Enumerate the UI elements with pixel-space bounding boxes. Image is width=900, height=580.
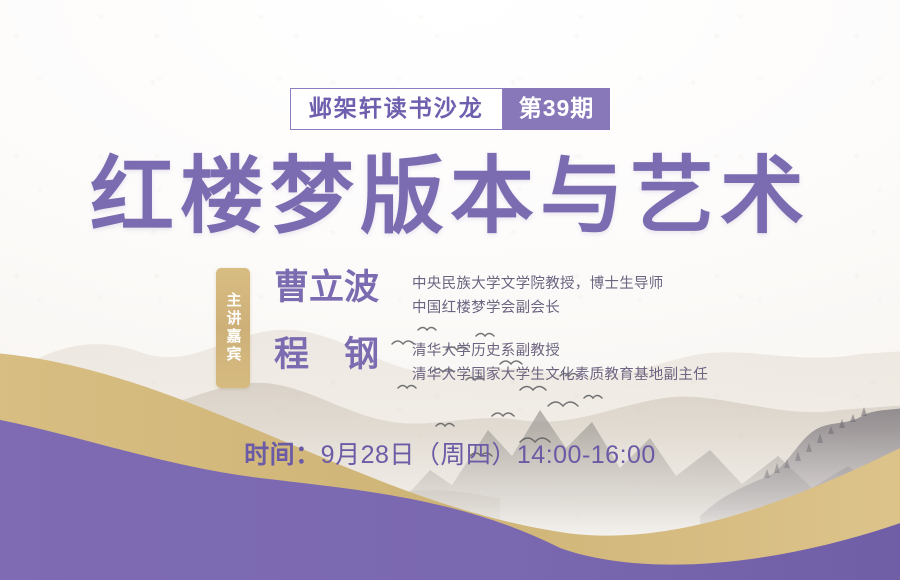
event-time-value: 9月28日（周四）14:00-16:00: [321, 441, 656, 469]
speaker-credential-line: 清华大学国家大学生文化素质教育基地副主任: [412, 364, 708, 388]
series-chip: 邺架轩读书沙龙: [290, 88, 503, 130]
event-time: 时间：9月28日（周四）14:00-16:00: [0, 435, 900, 471]
page-title: 红楼梦版本与艺术: [0, 150, 900, 242]
speaker-credentials: 清华大学历史系副教授 清华大学国家大学生文化素质教育基地副主任: [412, 335, 708, 388]
speaker-credential-line: 中国红楼梦学会副会长: [412, 297, 664, 321]
speaker-list: 曹立波 中央民族大学文学院教授，博士生导师 中国红楼梦学会副会长 程 钢 清华大…: [274, 268, 708, 388]
event-time-label: 时间：: [244, 441, 321, 469]
speaker-credential-line: 中央民族大学文学院教授，博士生导师: [412, 273, 664, 297]
speaker-name: 程 钢: [274, 335, 404, 375]
speaker-name: 曹立波: [274, 268, 404, 308]
speaker-credentials: 中央民族大学文学院教授，博士生导师 中国红楼梦学会副会长: [412, 268, 664, 321]
guest-badge: 主讲嘉宾: [216, 268, 250, 388]
speakers-section: 主讲嘉宾 曹立波 中央民族大学文学院教授，博士生导师 中国红楼梦学会副会长 程 …: [216, 268, 708, 388]
speaker-credential-line: 清华大学历史系副教授: [412, 340, 708, 364]
speaker-item: 程 钢 清华大学历史系副教授 清华大学国家大学生文化素质教育基地副主任: [274, 335, 708, 388]
speaker-item: 曹立波 中央民族大学文学院教授，博士生导师 中国红楼梦学会副会长: [274, 268, 708, 321]
poster-canvas: 邺架轩读书沙龙 第39期 红楼梦版本与艺术 主讲嘉宾 曹立波 中央民族大学文学院…: [0, 0, 900, 580]
issue-chip: 第39期: [503, 88, 611, 130]
header-chip-row: 邺架轩读书沙龙 第39期: [0, 88, 900, 130]
